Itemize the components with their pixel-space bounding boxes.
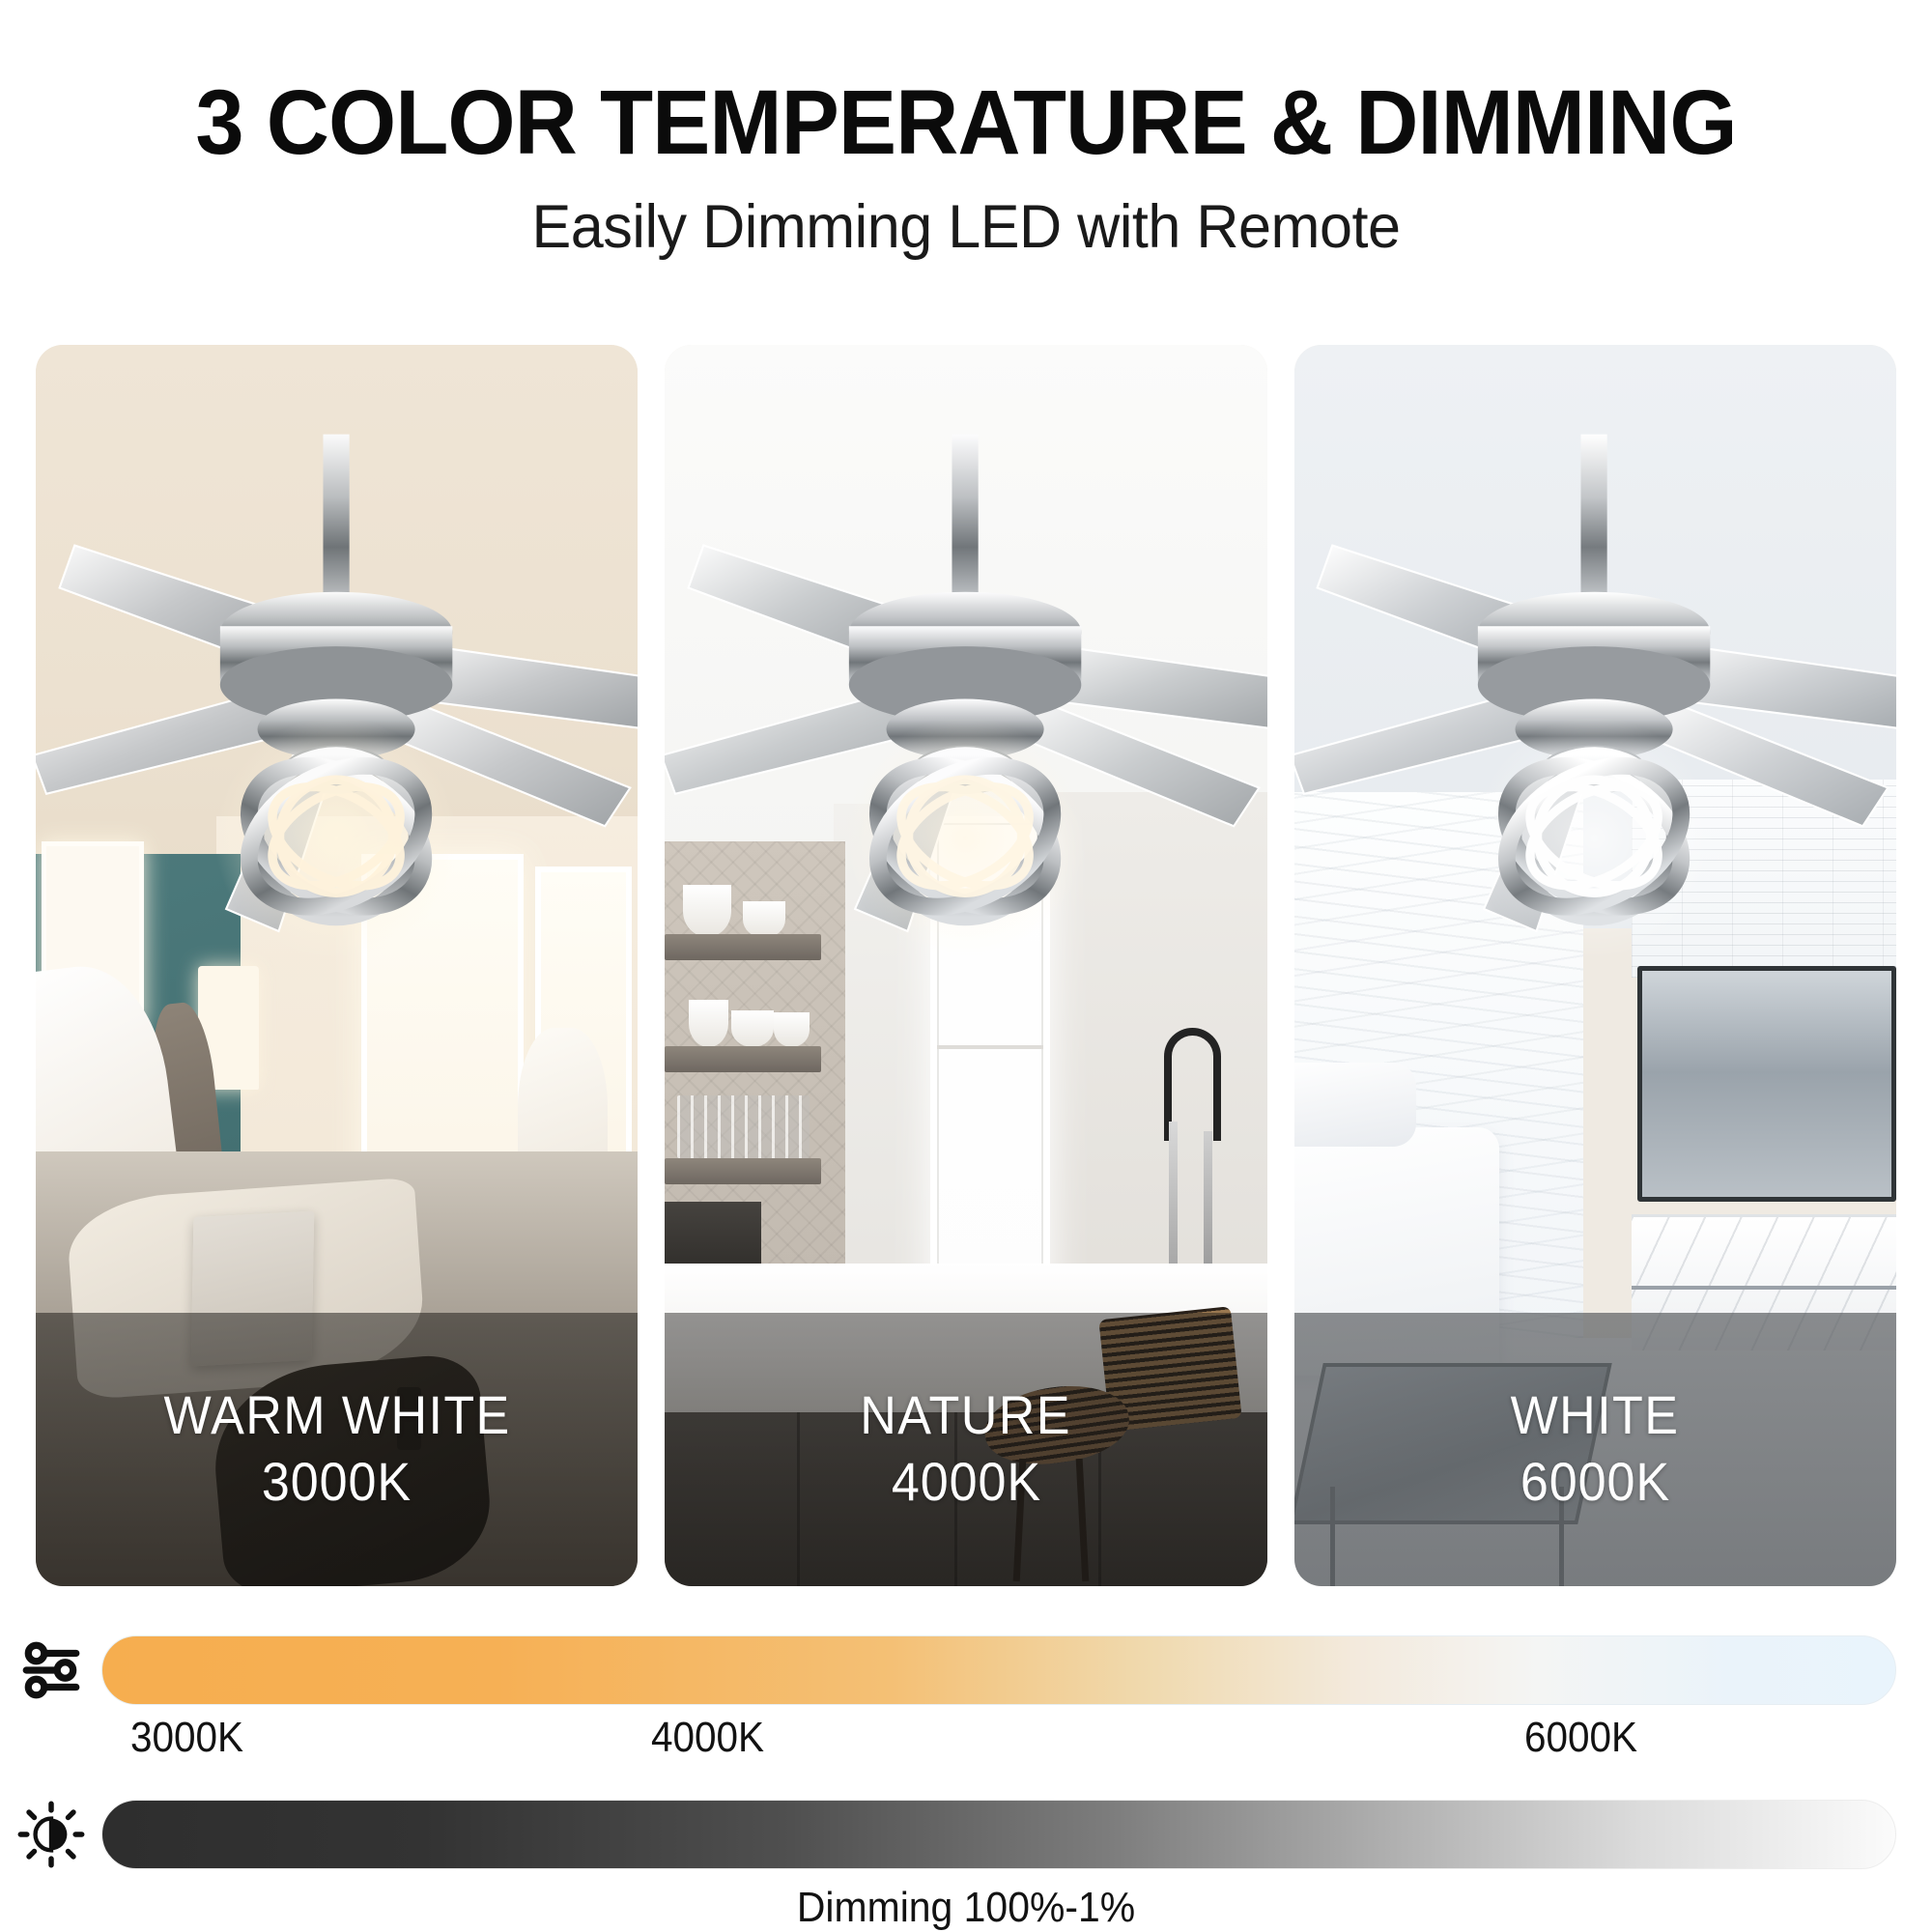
tick-label-6000k: 6000K: [1524, 1714, 1637, 1762]
dimming-gradient-bar[interactable]: [101, 1800, 1896, 1869]
panel-caption-warm-white: WARM WHITE 3000K: [36, 1313, 638, 1586]
ceiling-fan-illustration: [1294, 345, 1896, 1102]
ceiling-fan-illustration: [36, 345, 638, 1102]
color-temperature-gradient-bar[interactable]: [101, 1635, 1896, 1705]
caption-name: WARM WHITE: [163, 1385, 510, 1446]
scene-panel-nature[interactable]: NATURE 4000K: [665, 345, 1266, 1586]
dimming-range-label: Dimming 100%-1%: [68, 1884, 1864, 1932]
page-title: 3 COLOR TEMPERATURE & DIMMING: [48, 75, 1884, 171]
panel-caption-nature: NATURE 4000K: [665, 1313, 1266, 1586]
tick-label-4000k: 4000K: [651, 1714, 764, 1762]
caption-kelvin: 6000K: [1520, 1449, 1670, 1514]
brightness-icon-cell: [0, 1801, 101, 1868]
page-subtitle: Easily Dimming LED with Remote: [29, 192, 1903, 262]
panel-caption-white: WHITE 6000K: [1294, 1313, 1896, 1586]
caption-name: WHITE: [1511, 1385, 1680, 1446]
dimming-row: [0, 1797, 1932, 1872]
color-temperature-row: [0, 1633, 1932, 1708]
scene-panel-warm-white[interactable]: WARM WHITE 3000K: [36, 345, 638, 1586]
caption-kelvin: 3000K: [262, 1449, 412, 1514]
scene-panel-white[interactable]: WHITE 6000K: [1294, 345, 1896, 1586]
tick-label-3000k: 3000K: [130, 1714, 243, 1762]
sliders-icon-cell: [0, 1638, 101, 1702]
caption-name: NATURE: [861, 1385, 1072, 1446]
header: 3 COLOR TEMPERATURE & DIMMING Easily Dim…: [0, 0, 1932, 262]
caption-kelvin: 4000K: [891, 1449, 1040, 1514]
ceiling-fan-illustration: [665, 345, 1266, 1102]
slider-section: 3000K 4000K 6000K Dimmi: [0, 1633, 1932, 1932]
scene-panel-row: WARM WHITE 3000K: [36, 345, 1896, 1586]
sliders-icon: [19, 1638, 83, 1702]
color-temperature-tick-labels: 3000K 4000K 6000K: [101, 1708, 1896, 1777]
brightness-icon: [17, 1801, 85, 1868]
